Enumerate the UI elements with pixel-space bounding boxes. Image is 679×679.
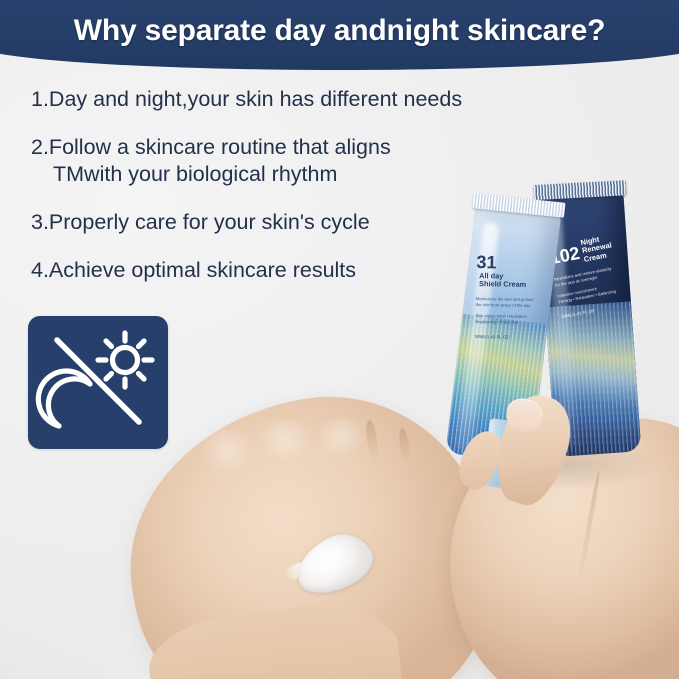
night-tube-name: NightRenewalCream: [580, 234, 614, 264]
day-tube-label: 31All dayShield Cream Moisturizes the sk…: [475, 253, 546, 340]
day-tube-number: 31: [476, 253, 496, 271]
day-tube-name: All dayShield Cream: [479, 272, 527, 290]
day-tube-fineprint-b: Skin stress relief • Hydration Brighteni…: [475, 313, 545, 325]
knuckle-highlight: [254, 420, 316, 458]
day-tube-fineprint-a: Moisturizes the skin and protect the ski…: [476, 296, 546, 308]
knuckle-highlight: [196, 430, 258, 470]
knuckle-highlight: [312, 418, 370, 454]
night-tube-label: 102NightRenewalCream Revitalizes and res…: [547, 232, 630, 319]
product-photo-scene: 102NightRenewalCream Revitalizes and res…: [0, 0, 679, 679]
poster-canvas: Why separate day andnight skincare? 1.Da…: [0, 0, 679, 679]
